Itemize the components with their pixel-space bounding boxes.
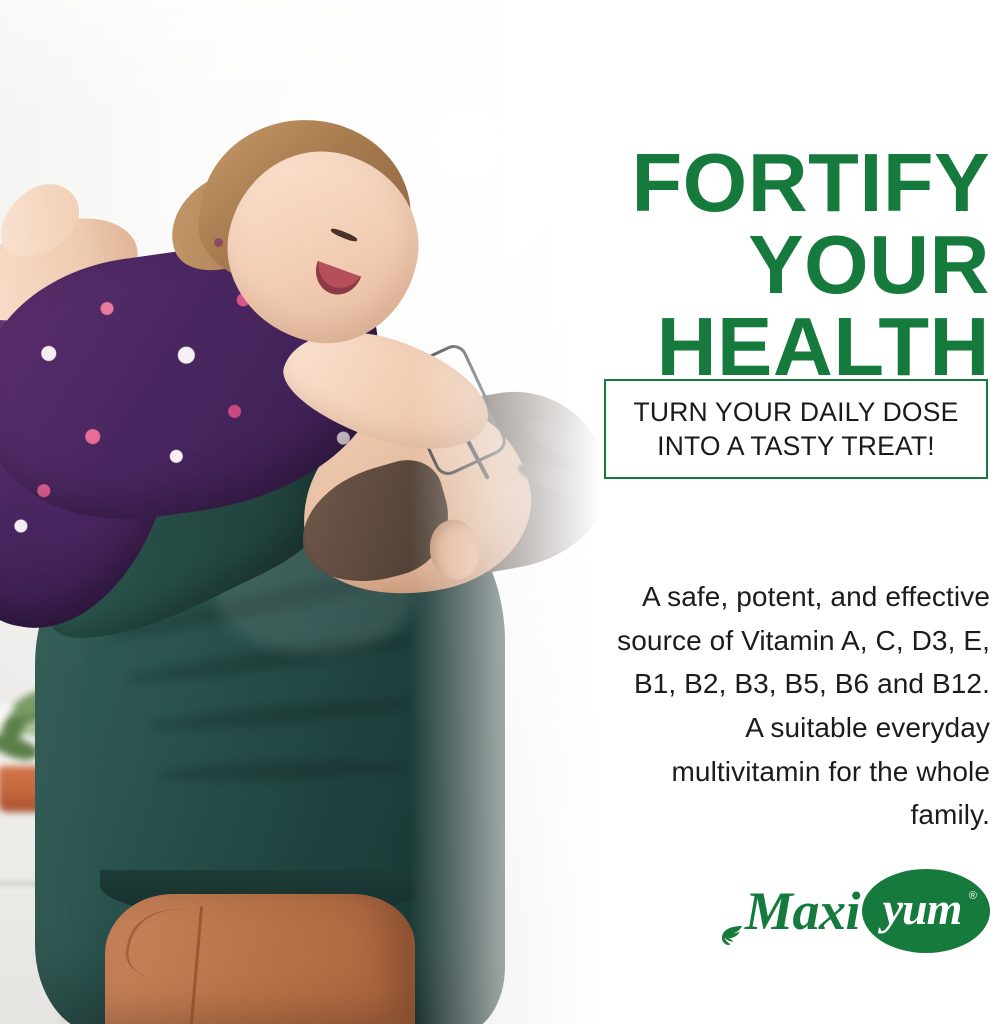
brand-name-maxi: Maxi [745,884,868,938]
advertisement-canvas: FORTIFY YOUR HEALTH TURN YOUR DAILY DOSE… [0,0,998,1024]
brand-name-maxi-text: Maxi [745,881,860,941]
lifestyle-photo [0,0,600,1024]
tagline-text: TURN YOUR DAILY DOSE INTO A TASTY TREAT! [633,395,958,464]
brand-logo-inner: Maxi yum ® [745,862,990,960]
tagline-line-1: TURN YOUR DAILY DOSE [633,395,958,429]
tagline-box: TURN YOUR DAILY DOSE INTO A TASTY TREAT! [604,379,988,479]
daughter-earring [214,238,223,247]
shirt-fold [155,758,405,785]
headline-line-3: HEALTH [604,306,990,388]
headline-line-1: FORTIFY [604,142,990,224]
registered-trademark-icon: ® [969,891,977,902]
copy-panel: FORTIFY YOUR HEALTH TURN YOUR DAILY DOSE… [604,0,998,1024]
shirt-fold [145,694,416,735]
headline-line-2: YOUR [604,224,990,306]
tagline-line-2: INTO A TASTY TREAT! [633,429,958,463]
body-paragraph: A safe, potent, and effective source of … [610,575,990,837]
brand-name-yum-text: yum [883,886,962,932]
brand-logo[interactable]: Maxi yum ® [604,862,990,960]
brand-logo-oval: yum ® [862,869,990,953]
leaf-icon [719,904,745,930]
page-title: FORTIFY YOUR HEALTH [604,142,990,388]
